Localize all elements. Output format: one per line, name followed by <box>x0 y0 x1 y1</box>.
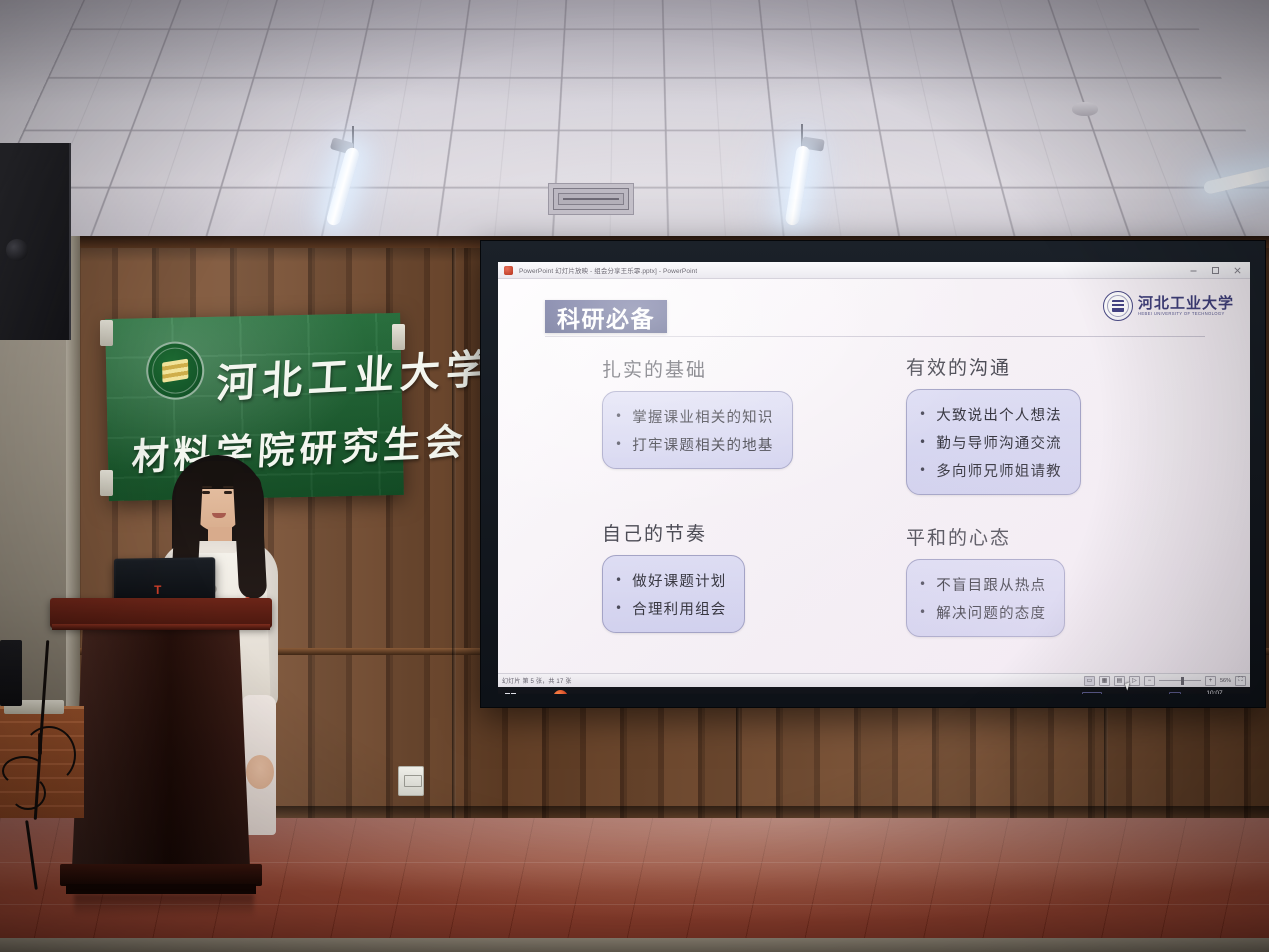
projected-desktop: PowerPoint 幻灯片放映 - 组会分享王乐霏.pptx] - Power… <box>498 262 1250 694</box>
bullet-item: • 做好课题计划 <box>615 566 726 594</box>
zoom-in-icon[interactable]: + <box>1205 676 1216 686</box>
podium-plinth <box>66 884 256 894</box>
slide-quadrant-2: 有效的沟通 • 大致说出个人想法 • 勤与导师沟通交流 • 多向师兄师姐请教 <box>906 353 1081 495</box>
slide-quadrant-4: 平和的心态 • 不盲目跟从热点 • 解决问题的态度 <box>906 523 1065 637</box>
banner-tab <box>100 320 113 346</box>
close-icon[interactable] <box>1226 262 1248 279</box>
bullet-dot-icon: • <box>919 436 927 448</box>
bullet-item: • 多向师兄师姐请教 <box>919 456 1062 484</box>
podium-body <box>72 630 250 868</box>
quadrant-heading: 扎实的基础 <box>602 355 793 382</box>
presenter-eye <box>202 491 210 494</box>
podium-base <box>60 864 262 886</box>
page-title: 科研必备 <box>557 300 655 334</box>
bullet-dot-icon: • <box>919 408 927 420</box>
bullet-dot-icon: • <box>615 410 623 422</box>
powerpoint-taskbar-icon[interactable] <box>553 691 568 695</box>
quadrant-heading: 平和的心态 <box>906 523 1065 550</box>
quadrant-bullet-box: • 掌握课业相关的知识 • 打牢课题相关的地基 <box>602 391 793 469</box>
suspended-ceiling <box>0 0 1269 258</box>
bullet-item: • 不盲目跟从热点 <box>919 570 1046 598</box>
windows-start-icon[interactable] <box>503 691 518 695</box>
floor-skirting <box>0 938 1269 952</box>
clock-time: 10:07 <box>1206 690 1222 694</box>
action-center-icon[interactable] <box>1236 694 1245 695</box>
banner-tab <box>392 324 405 350</box>
restore-icon[interactable] <box>1204 262 1226 279</box>
search-icon[interactable] <box>528 691 543 695</box>
smoke-detector-icon <box>1072 102 1098 116</box>
normal-view-icon[interactable]: ▭ <box>1084 676 1095 686</box>
slide-quadrant-3: 自己的节奏 • 做好课题计划 • 合理利用组会 <box>602 519 745 633</box>
taskbar-left <box>503 691 568 695</box>
quadrant-heading: 自己的节奏 <box>602 519 745 546</box>
taskbar-clock[interactable]: 10:07 2023/12/8 <box>1200 690 1229 694</box>
bullet-text: 合理利用组会 <box>632 598 726 619</box>
emblem-book-glyph <box>162 359 188 383</box>
floor-cable <box>22 726 76 784</box>
bullet-text: 解决问题的态度 <box>936 602 1046 623</box>
bullet-text: 勤与导师沟通交流 <box>936 432 1062 453</box>
powerpoint-status-bar: 幻灯片 第 5 张，共 17 张 ▭ ▦ ▤ ▷ − + 56% ⛶ <box>498 673 1250 687</box>
bullet-item: • 掌握课业相关的知识 <box>615 402 774 430</box>
ceiling-shading <box>0 0 1269 258</box>
seal-glyph <box>1112 300 1124 312</box>
slide-title-rule <box>545 336 1205 337</box>
language-label[interactable]: 英 <box>1169 692 1181 695</box>
system-tray: ⌨ 搜狗 ⌃ ▭ ◀) ⊕ ⊡ 英 ▥ 10:07 2023/12/8 <box>1065 690 1245 694</box>
windows-taskbar: ⌨ 搜狗 ⌃ ▭ ◀) ⊕ ⊡ 英 ▥ 10:07 2023/12/8 <box>498 687 1250 694</box>
bullet-text: 打牢课题相关的地基 <box>632 434 773 455</box>
bullet-dot-icon: • <box>615 574 623 586</box>
minimize-icon[interactable] <box>1182 262 1204 279</box>
university-seal-icon <box>1103 291 1133 321</box>
slide-quadrant-1: 扎实的基础 • 掌握课业相关的知识 • 打牢课题相关的地基 <box>602 355 793 469</box>
wall-speaker <box>0 143 71 340</box>
quadrant-heading: 有效的沟通 <box>906 353 1081 380</box>
podium-floor-reflection <box>74 894 254 918</box>
bullet-dot-icon: • <box>919 606 927 618</box>
slide-sorter-icon[interactable]: ▦ <box>1099 676 1110 686</box>
side-monitor <box>0 640 22 706</box>
ceiling-air-vent <box>548 183 634 215</box>
bullet-dot-icon: • <box>919 464 927 476</box>
podium-top-edge <box>52 624 270 630</box>
wall-power-socket <box>398 766 424 796</box>
university-names: 河北工业大学 HEBEI UNIVERSITY OF TECHNOLOGY <box>1138 296 1234 316</box>
university-name-en: HEBEI UNIVERSITY OF TECHNOLOGY <box>1138 312 1234 316</box>
university-name-cn: 河北工业大学 <box>1138 296 1234 312</box>
bullet-text: 不盲目跟从热点 <box>936 574 1046 595</box>
powerpoint-title-bar: PowerPoint 幻灯片放映 - 组会分享王乐霏.pptx] - Power… <box>498 262 1250 279</box>
bullet-text: 掌握课业相关的知识 <box>632 406 773 427</box>
university-logo: 河北工业大学 HEBEI UNIVERSITY OF TECHNOLOGY <box>1103 291 1234 321</box>
bullet-item: • 解决问题的态度 <box>919 598 1046 626</box>
quadrant-bullet-box: • 做好课题计划 • 合理利用组会 <box>602 555 745 633</box>
banner-tab <box>100 470 113 496</box>
bullet-item: • 合理利用组会 <box>615 594 726 622</box>
reading-view-icon[interactable]: ▤ <box>1114 676 1125 686</box>
slide-title-box: 科研必备 <box>545 300 667 333</box>
bullet-dot-icon: • <box>615 602 623 614</box>
lecture-hall-scene: 河北工业大学 材料学院研究生会 PowerPoint 幻灯片放映 - 组会分享王… <box>0 0 1269 952</box>
windows-logo-glyph <box>505 693 516 694</box>
bullet-item: • 大致说出个人想法 <box>919 400 1062 428</box>
window-controls <box>1182 262 1248 279</box>
bullet-text: 多向师兄师姐请教 <box>936 460 1062 481</box>
ime-label[interactable]: 搜狗 <box>1082 692 1102 695</box>
bullet-text: 大致说出个人想法 <box>936 404 1062 425</box>
zoom-out-icon[interactable]: − <box>1144 676 1155 686</box>
bullet-dot-icon: • <box>919 578 927 590</box>
window-title: PowerPoint 幻灯片放映 - 组会分享王乐霏.pptx] - Power… <box>519 265 697 275</box>
quadrant-bullet-box: • 不盲目跟从热点 • 解决问题的态度 <box>906 559 1065 637</box>
zoom-slider-track <box>1159 680 1201 681</box>
slide-counter: 幻灯片 第 5 张，共 17 张 <box>502 676 572 685</box>
zoom-slider-knob[interactable] <box>1181 677 1184 685</box>
wall-panel-seam <box>452 248 456 838</box>
bullet-dot-icon: • <box>615 438 623 450</box>
zoom-level: 56% <box>1220 678 1231 684</box>
status-bar-controls: ▭ ▦ ▤ ▷ − + 56% ⛶ <box>1084 676 1246 686</box>
presenter-eyebrow <box>223 486 234 488</box>
bullet-item: • 打牢课题相关的地基 <box>615 430 774 458</box>
laptop-brand-icon: T <box>154 584 166 597</box>
bullet-text: 做好课题计划 <box>632 570 726 591</box>
presenter-eye <box>224 491 232 494</box>
powerpoint-app-glyph <box>553 690 568 694</box>
zoom-slider[interactable] <box>1159 676 1201 686</box>
search-glass-glyph <box>531 694 540 695</box>
slide-canvas: 科研必备 河北工业大学 HEBEI UNIVERSITY OF TECHNOLO… <box>498 279 1250 673</box>
powerpoint-icon <box>504 266 513 275</box>
presenter-eyebrow <box>201 486 212 488</box>
fit-to-window-icon[interactable]: ⛶ <box>1235 676 1246 686</box>
quadrant-bullet-box: • 大致说出个人想法 • 勤与导师沟通交流 • 多向师兄师姐请教 <box>906 389 1081 495</box>
bullet-item: • 勤与导师沟通交流 <box>919 428 1062 456</box>
